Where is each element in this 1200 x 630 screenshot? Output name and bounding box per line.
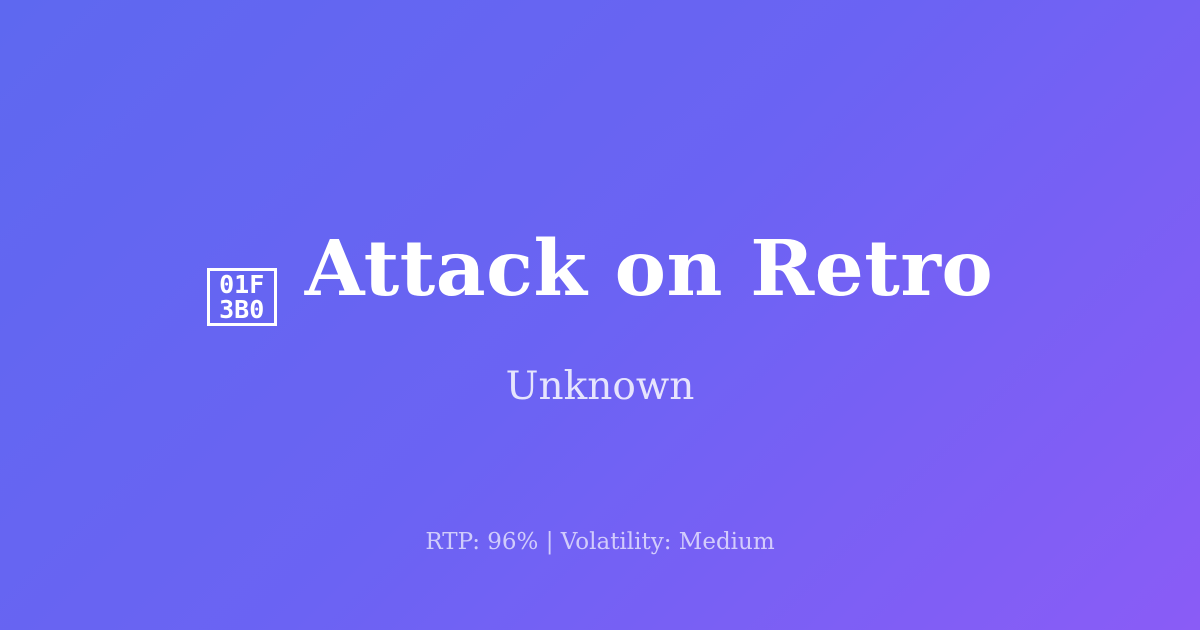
game-og-card: 01F 3B0 Attack on Retro Unknown RTP: 96%… <box>0 0 1200 630</box>
game-meta-line: RTP: 96% | Volatility: Medium <box>0 528 1200 557</box>
tofu-hex-row-bottom: 3B0 <box>219 297 264 322</box>
slot-machine-emoji-icon: 01F 3B0 <box>207 268 277 326</box>
game-title: Attack on Retro <box>305 231 994 308</box>
title-row: 01F 3B0 Attack on Retro <box>0 231 1200 328</box>
tofu-hex-row-top: 01F <box>219 272 264 297</box>
game-provider-subtitle: Unknown <box>0 365 1200 409</box>
